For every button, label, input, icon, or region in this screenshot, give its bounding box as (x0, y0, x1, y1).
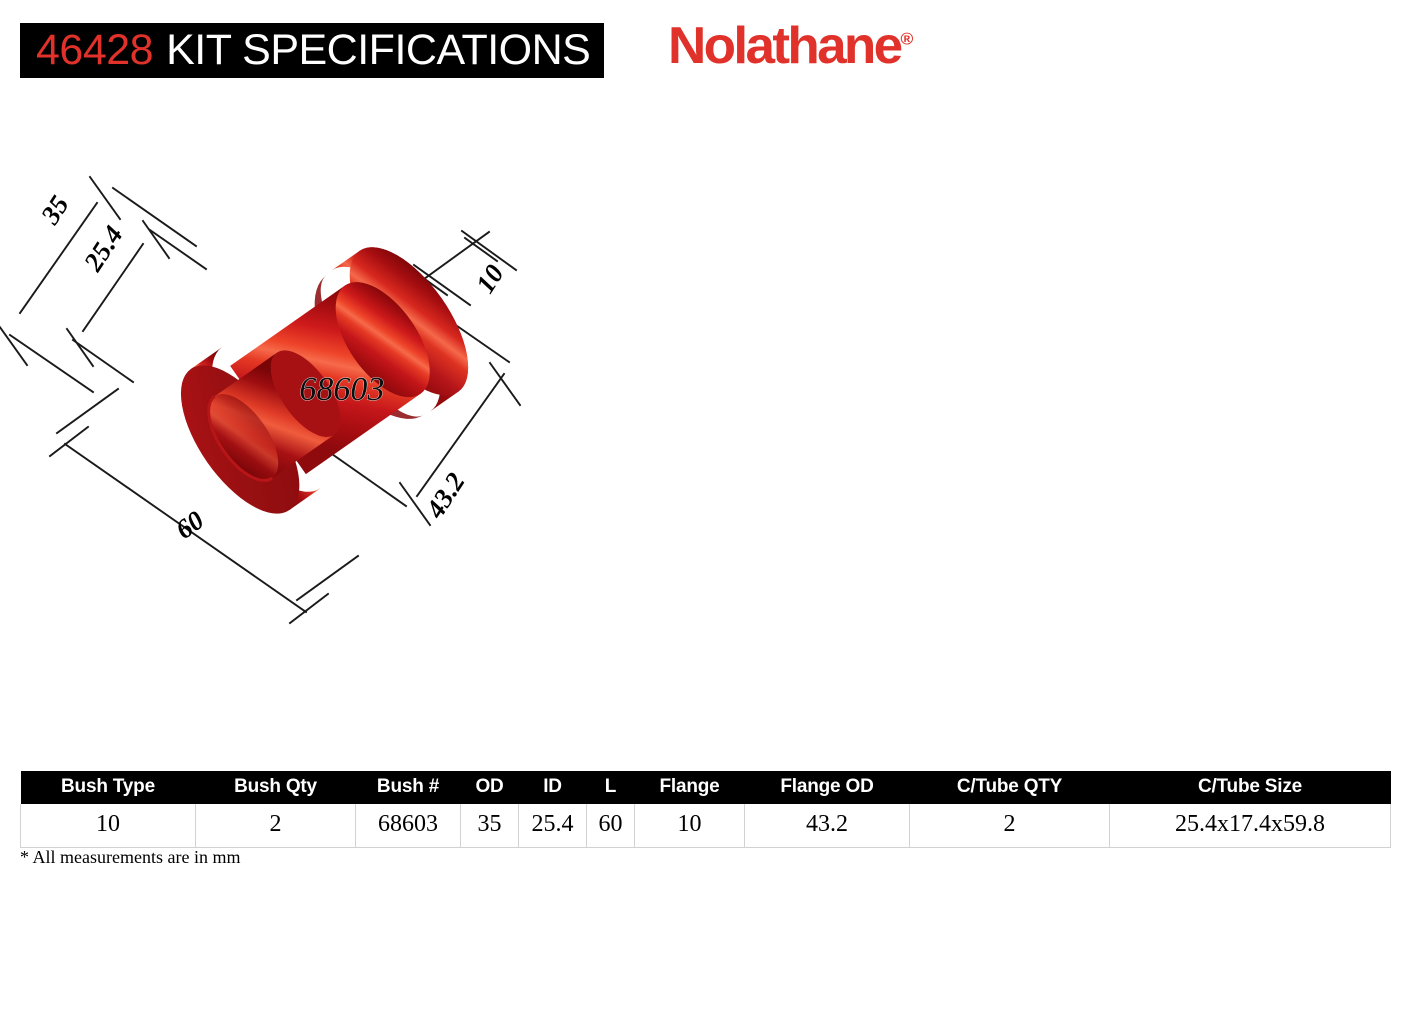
cell-bush-type: 10 (21, 804, 196, 848)
nolathane-logo: Nolathane® (668, 20, 913, 72)
cell-l: 60 (587, 804, 635, 848)
column-header-bush-qty: Bush Qty (196, 771, 356, 804)
page-header: 46428 KIT SPECIFICATIONS Nolathane® (0, 0, 1410, 110)
registered-trademark-icon: ® (901, 30, 914, 49)
cell-ctube-size: 25.4x17.4x59.8 (1110, 804, 1391, 848)
dimension-label-10: 10 (470, 259, 510, 298)
dimension-label-35: 35 (34, 190, 74, 230)
dimension-label-25-4: 25.4 (77, 220, 128, 277)
brand-name: Nolathane (668, 17, 901, 75)
part-number-label: 68603 (299, 371, 384, 408)
cell-id: 25.4 (519, 804, 587, 848)
dimension-label-60: 60 (170, 504, 210, 544)
column-header-id: ID (519, 771, 587, 804)
cell-bush-number: 68603 (356, 804, 461, 848)
bush-technical-drawing: 68603 35 25.4 60 10 43.2 (0, 120, 700, 700)
column-header-bush-number: Bush # (356, 771, 461, 804)
column-header-flange: Flange (635, 771, 745, 804)
cell-ctube-qty: 2 (910, 804, 1110, 848)
measurements-footnote: * All measurements are in mm (20, 847, 240, 868)
page-title: KIT SPECIFICATIONS (166, 29, 590, 72)
cell-flange-od: 43.2 (745, 804, 910, 848)
cell-bush-qty: 2 (196, 804, 356, 848)
kit-specifications-table: Bush Type Bush Qty Bush # OD ID L Flange… (20, 771, 1391, 848)
table-header-row: Bush Type Bush Qty Bush # OD ID L Flange… (21, 771, 1391, 804)
kit-number: 46428 (36, 29, 153, 72)
column-header-l: L (587, 771, 635, 804)
dimension-label-43-2: 43.2 (419, 467, 470, 524)
column-header-bush-type: Bush Type (21, 771, 196, 804)
column-header-ctube-size: C/Tube Size (1110, 771, 1391, 804)
column-header-od: OD (461, 771, 519, 804)
cell-od: 35 (461, 804, 519, 848)
title-bar: 46428 KIT SPECIFICATIONS (20, 23, 604, 78)
column-header-ctube-qty: C/Tube QTY (910, 771, 1110, 804)
column-header-flange-od: Flange OD (745, 771, 910, 804)
table-row: 10 2 68603 35 25.4 60 10 43.2 2 25.4x17.… (21, 804, 1391, 848)
cell-flange: 10 (635, 804, 745, 848)
